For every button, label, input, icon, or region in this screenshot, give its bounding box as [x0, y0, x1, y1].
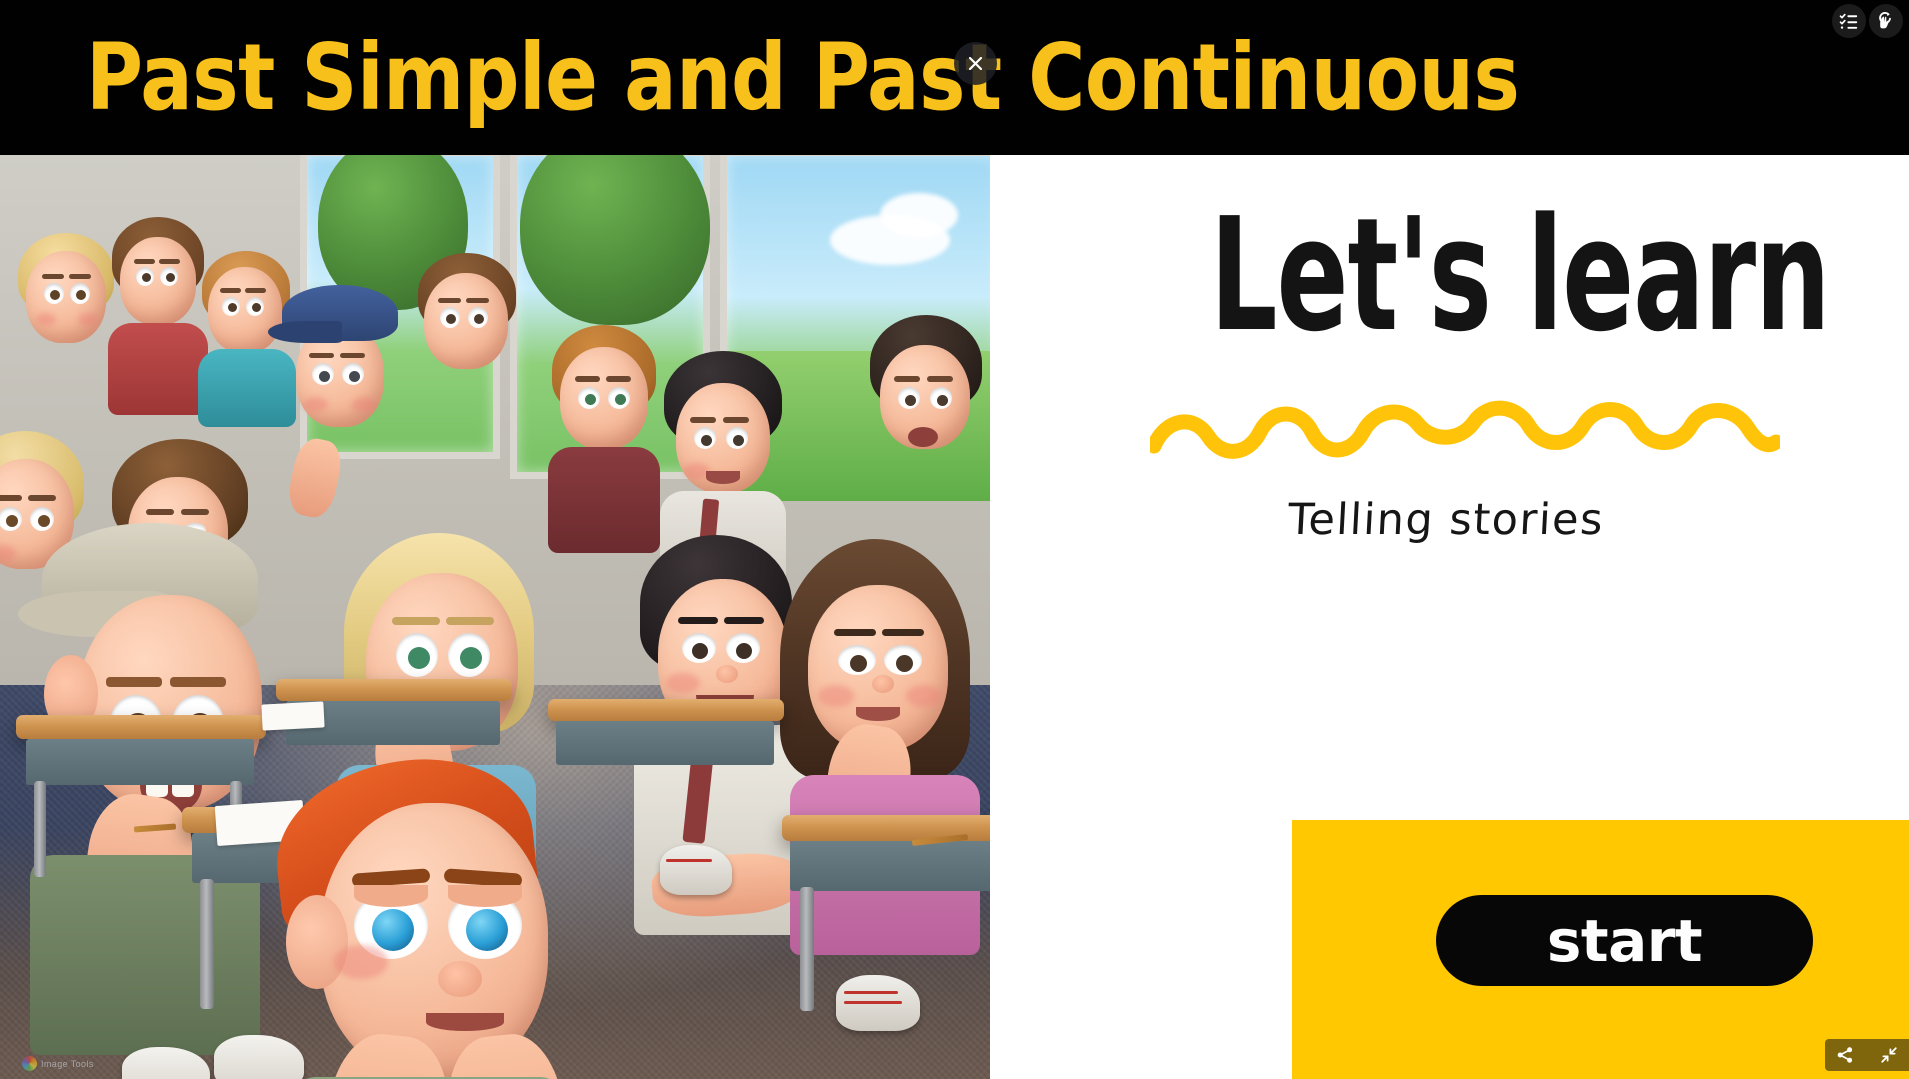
- shoe: [836, 975, 920, 1031]
- desk-leg: [200, 879, 214, 1009]
- start-button-label: start: [1547, 911, 1702, 971]
- desk-back-left-body: [26, 739, 254, 785]
- desk-leg: [34, 781, 46, 877]
- exit-fullscreen-icon: [1880, 1046, 1898, 1064]
- shoe: [660, 845, 732, 895]
- classroom-scene: Image Tools: [0, 155, 990, 1079]
- viewer-toolbar: [1825, 1039, 1909, 1071]
- lesson-subtitle: Telling stories: [1287, 492, 1606, 548]
- exit-fullscreen-button[interactable]: [1879, 1045, 1899, 1065]
- page-title: Let's learn: [1210, 196, 1830, 357]
- watermark: Image Tools: [22, 1056, 94, 1071]
- desk-right: [548, 699, 784, 721]
- squiggle-underline-icon: [1150, 398, 1780, 460]
- tree-right: [520, 155, 710, 325]
- interaction-mode-button[interactable]: [1869, 4, 1903, 38]
- cloud-2: [880, 193, 958, 237]
- desk-right-body: [556, 721, 774, 765]
- desk-leg: [800, 887, 814, 1011]
- watermark-text: Image Tools: [41, 1059, 94, 1069]
- lesson-title: Past Simple and Past Continuous: [86, 23, 1519, 133]
- header-icon-group: [1832, 4, 1903, 38]
- close-icon: [967, 55, 984, 72]
- start-button[interactable]: start: [1436, 895, 1813, 986]
- share-button[interactable]: [1835, 1045, 1855, 1065]
- classroom-illustration: Image Tools: [0, 155, 990, 1079]
- checklist-icon: [1839, 11, 1859, 31]
- lesson-header: Past Simple and Past Continuous: [0, 0, 1909, 155]
- share-icon: [1836, 1046, 1854, 1064]
- desk-mid: [276, 679, 512, 701]
- desk-right-front-body: [790, 841, 990, 891]
- slide-viewer: Image Tools Let's learn Telling stories …: [0, 0, 1909, 1079]
- paper: [261, 701, 324, 730]
- desk-back-left: [16, 715, 266, 739]
- hand-tap-icon: [1876, 11, 1896, 31]
- close-button[interactable]: [954, 42, 997, 85]
- watermark-logo-icon: [22, 1056, 37, 1071]
- checklist-button[interactable]: [1832, 4, 1866, 38]
